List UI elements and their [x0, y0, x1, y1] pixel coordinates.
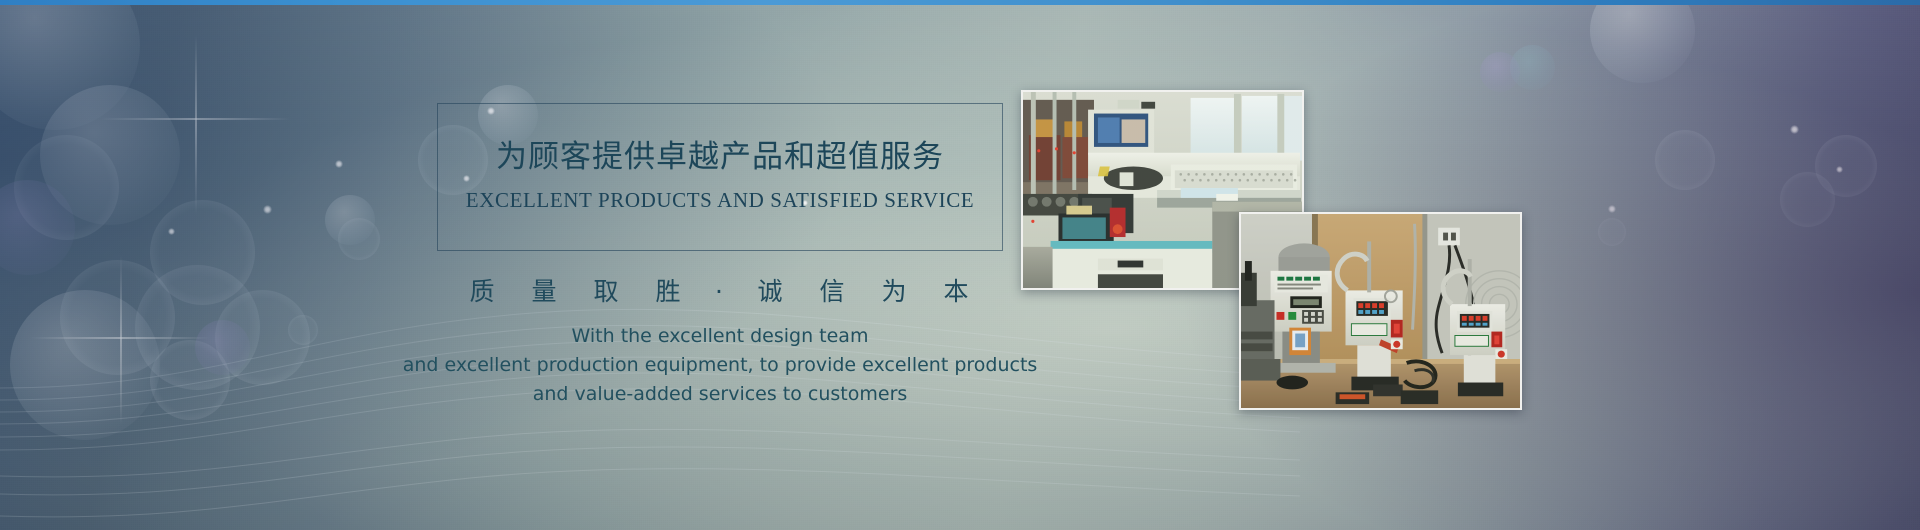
headline-frame — [437, 103, 1003, 251]
background-vignette — [0, 0, 1920, 530]
terminal-crimping-machines-photo[interactable] — [1239, 212, 1522, 410]
top-accent-bar — [0, 0, 1920, 5]
crimping-machines-image — [1241, 214, 1520, 408]
hero-banner: 为顾客提供卓越产品和超值服务 EXCELLENT PRODUCTS AND SA… — [0, 0, 1920, 530]
